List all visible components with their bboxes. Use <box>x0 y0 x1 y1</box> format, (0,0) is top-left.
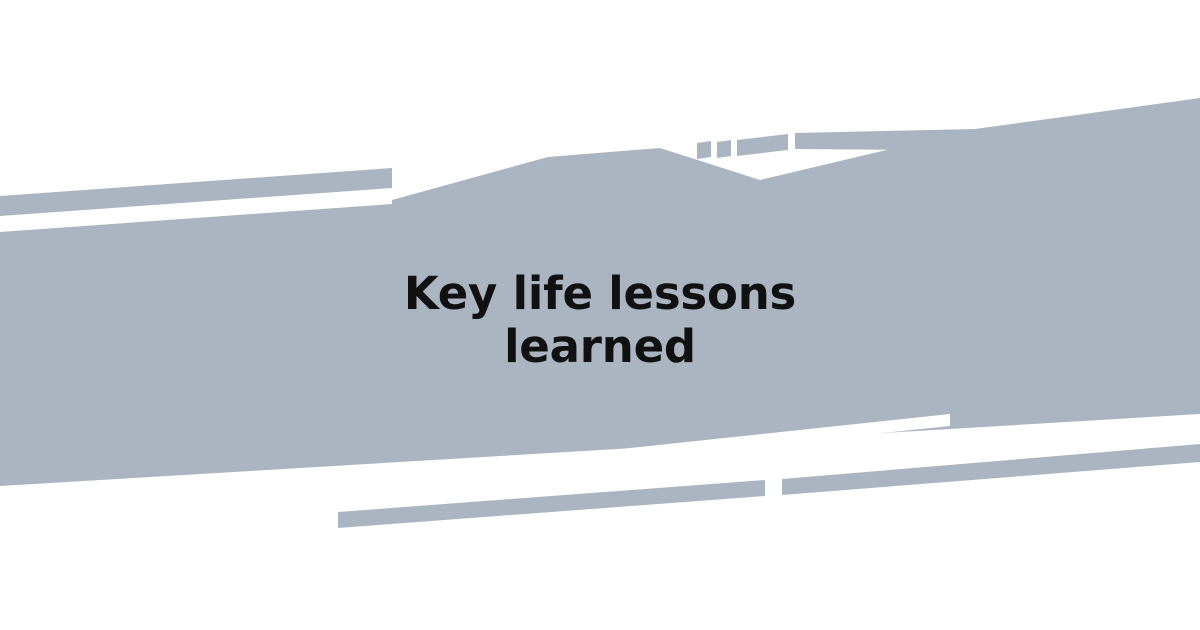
dash-square-1 <box>697 141 711 159</box>
abstract-banner-graphic <box>0 0 1200 630</box>
banner-card: Key life lessons learned <box>0 0 1200 630</box>
dash-square-2 <box>717 140 731 158</box>
